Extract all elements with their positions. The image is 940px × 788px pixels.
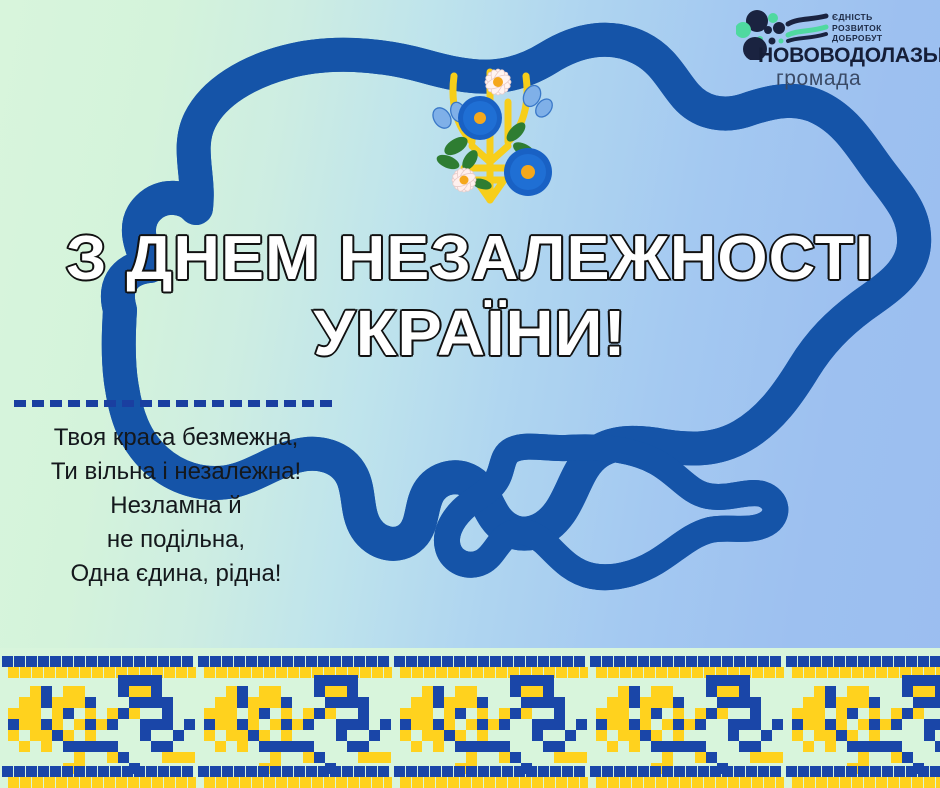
- logo-subtitle: громада: [776, 67, 861, 91]
- tagline-line: ДОБРОБУТ: [832, 33, 883, 44]
- border-pattern-fill: [0, 648, 940, 788]
- organization-logo: ЄДНІСТЬ РОЗВИТОК ДОБРОБУТ НОВОВОДОЛАЗЬКА…: [736, 8, 926, 94]
- trident-emblem: [424, 50, 556, 218]
- poem-divider: [14, 400, 336, 407]
- poem-block: Твоя краса безмежна, Ти вільна і незалеж…: [0, 400, 352, 591]
- poem-line: не подільна,: [0, 523, 352, 557]
- poem-line: Ти вільна і незалежна!: [0, 455, 352, 489]
- logo-name: НОВОВОДОЛАЗЬКА: [758, 44, 940, 68]
- vyshyvanka-border: [0, 648, 940, 788]
- logo-tagline: ЄДНІСТЬ РОЗВИТОК ДОБРОБУТ: [832, 12, 883, 44]
- poem-line: Одна єдина, рідна!: [0, 557, 352, 591]
- poem-line: Незламна й: [0, 489, 352, 523]
- tagline-line: РОЗВИТОК: [832, 23, 883, 34]
- tagline-line: ЄДНІСТЬ: [832, 12, 883, 23]
- greeting-card: З ДНЕМ НЕЗАЛЕЖНОСТІ УКРАЇНИ! Твоя краса …: [0, 0, 940, 788]
- poem-line: Твоя краса безмежна,: [0, 421, 352, 455]
